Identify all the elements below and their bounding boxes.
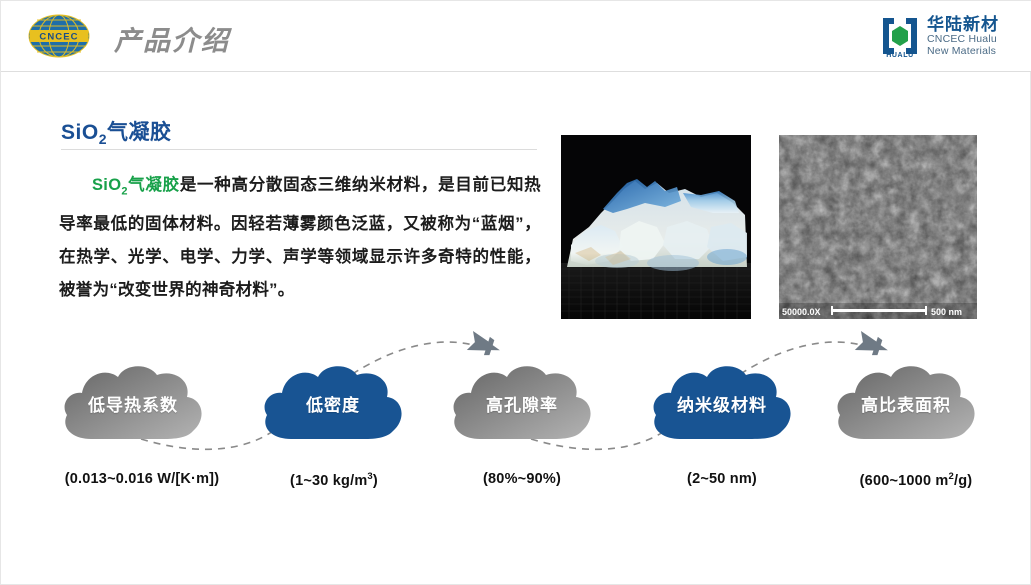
caption-porosity: (80%~90%) [429,471,615,487]
body-paragraph: SiO2气凝胶是一种高分散固态三维纳米材料，是目前已知热导率最低的固体材料。因轻… [59,169,541,307]
page-title: 产品介绍 [114,19,230,58]
cloud-label: 低密度 [259,361,407,445]
caption-thermal-conductivity: (0.013~0.016 W/[K·m]) [33,471,251,487]
sem-magnification-label: 50000.0X [782,307,821,317]
cloud-nano-scale-material[interactable]: 纳米级材料 [648,361,796,445]
cloud-label: 高孔隙率 [448,361,596,445]
hualu-name-en-line2: New Materials [927,46,999,57]
section-heading-main: SiO [61,121,99,144]
cncec-wordmark: CNCEC [39,31,78,42]
caption-text: (80%~90%) [483,471,561,487]
section-heading: SiO2气凝胶 [61,116,171,147]
cncec-hualu-logo: HUALU 华陆新材 CNCEC Hualu New Materials [878,12,1016,60]
cloud-label: 纳米级材料 [648,361,796,445]
cncec-logo: CNCEC [21,13,97,59]
sem-scale-bar-label: 500 nm [931,307,962,317]
slide-header: CNCEC 产品介绍 HUALU 华陆新材 CNCEC Hualu New Ma… [1,1,1031,72]
cloud-low-thermal-conductivity[interactable]: 低导热系数 [59,361,207,445]
caption-text: (1~30 kg/m [290,473,367,489]
cloud-label: 高比表面积 [832,361,980,445]
hualu-wordmark: 华陆新材 CNCEC Hualu New Materials [927,16,999,56]
body-highlight-term: SiO2气凝胶 [92,176,180,194]
hualu-hexagon-icon: HUALU [878,14,922,58]
hualu-name-cn: 华陆新材 [927,16,999,33]
cloud-label: 低导热系数 [59,361,207,445]
body-highlight-rest: 气凝胶 [128,176,180,194]
cloud-high-specific-surface[interactable]: 高比表面积 [832,361,980,445]
caption-text: (2~50 nm) [687,471,757,487]
cloud-low-density[interactable]: 低密度 [259,361,407,445]
caption-text: (0.013~0.016 W/[K·m]) [65,471,220,487]
caption-surface-area: (600~1000 m2/g) [813,471,1019,489]
hualu-name-en-line1: CNCEC Hualu [927,34,999,45]
body-paragraph-text: 是一种高分散固态三维纳米材料，是目前已知热导率最低的固体材料。因轻若薄雾颜色泛蓝… [59,176,541,299]
section-heading-subscript: 2 [99,131,107,147]
caption-tail: /g) [954,473,972,489]
aerogel-sample-photo [561,135,751,319]
cloud-diagram: 低导热系数 低密度 高孔隙率 [1,321,1031,461]
caption-particle-size: (2~50 nm) [629,471,815,487]
caption-text: (600~1000 m [860,473,949,489]
caption-tail: ) [373,473,378,489]
cloud-high-porosity[interactable]: 高孔隙率 [448,361,596,445]
section-heading-rest: 气凝胶 [107,121,172,144]
sem-micrograph-photo: 50000.0X 500 nm [779,135,977,319]
caption-density: (1~30 kg/m3) [239,471,429,489]
caption-row: (0.013~0.016 W/[K·m]) (1~30 kg/m3) (80%~… [1,471,1031,503]
body-highlight-main: SiO [92,176,121,194]
hualu-mark-word: HUALU [886,52,914,58]
heading-divider [61,149,537,150]
slide-canvas: CNCEC 产品介绍 HUALU 华陆新材 CNCEC Hualu New Ma… [0,0,1031,585]
